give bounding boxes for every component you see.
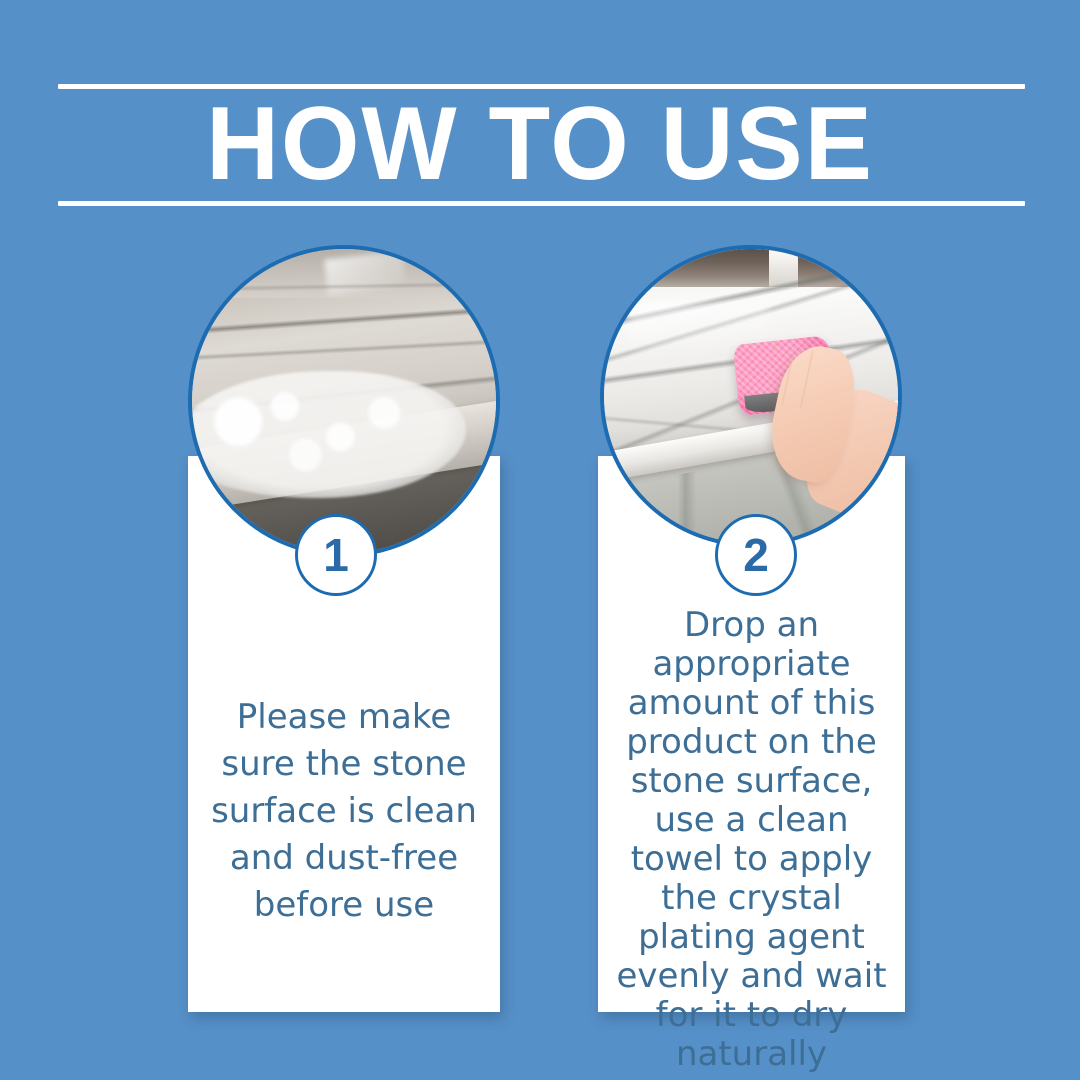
step-2-photo bbox=[600, 245, 902, 547]
step-card-2: 2 Drop an appropriate amount of this pro… bbox=[598, 220, 905, 1020]
step-2-caption: Drop an appropriate amount of this produ… bbox=[606, 606, 897, 1074]
marble-highlight-2 bbox=[628, 302, 769, 349]
step-2-number-badge: 2 bbox=[715, 514, 797, 596]
step-1-caption: Please make sure the stone surface is cl… bbox=[196, 694, 492, 929]
steps-container: 1 Please make sure the stone surface is … bbox=[0, 220, 1080, 1080]
step-1-photo bbox=[188, 245, 500, 557]
step-2-photo-image bbox=[604, 249, 898, 543]
step-card-1: 1 Please make sure the stone surface is … bbox=[188, 220, 500, 1020]
page-header: HOW TO USE bbox=[0, 0, 1080, 220]
step-1-photo-image bbox=[192, 249, 496, 553]
title-rule-bottom bbox=[58, 201, 1025, 206]
page-title: HOW TO USE bbox=[16, 90, 1064, 198]
step-1-number-badge: 1 bbox=[295, 514, 377, 596]
finger-lines bbox=[764, 344, 838, 413]
